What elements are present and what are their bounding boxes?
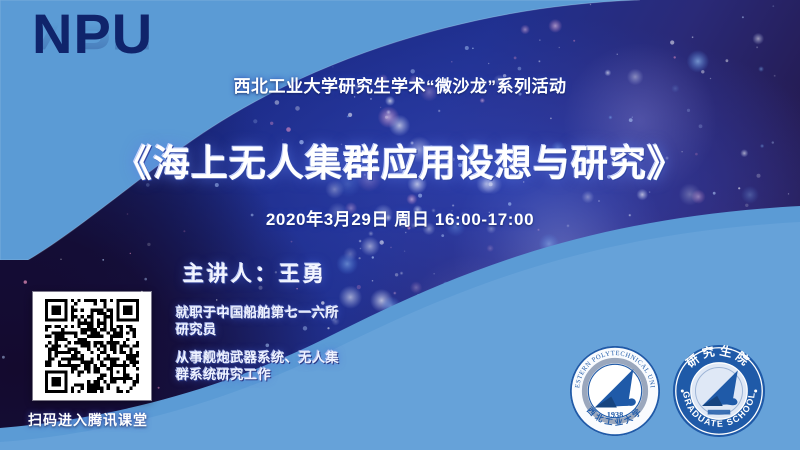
seal-university-year: 1938 <box>607 411 624 420</box>
speaker-bio-line-3: 从事舰炮武器系统、无人集 <box>176 351 339 366</box>
page-title: 《海上无人集群应用设想与研究》 <box>0 133 800 187</box>
speaker-bio: 就职于中国船舶第七一六所 研究员 从事舰炮武器系统、无人集 群系统研究工作 <box>176 305 339 384</box>
speaker-name: 主讲人：王勇 <box>183 258 327 288</box>
event-series-subtitle: 西北工业大学研究生学术“微沙龙”系列活动 <box>0 72 800 97</box>
speaker-bio-line-2: 研究员 <box>176 323 217 338</box>
graduate-school-seal-icon: 研究生院 GRADUATE SCHOOL <box>672 344 766 438</box>
npu-logo-reflection: NPU <box>32 2 192 58</box>
event-poster: NPU NPU 西北工业大学研究生学术“微沙龙”系列活动 《海上无人集群应用设想… <box>0 0 800 450</box>
university-seal-icon: NORTHWESTERN POLYTECHNICAL UNIVERSITY 西北… <box>569 345 661 437</box>
event-datetime: 2020年3月29日 周日 16:00-17:00 <box>0 205 800 230</box>
qr-code-icon[interactable] <box>33 292 151 400</box>
bio-spacer <box>176 339 339 350</box>
speaker-bio-line-1: 就职于中国船舶第七一六所 <box>176 306 339 321</box>
qr-caption: 扫码进入腾讯课堂 <box>28 410 148 430</box>
speaker-bio-line-4: 群系统研究工作 <box>176 368 271 383</box>
